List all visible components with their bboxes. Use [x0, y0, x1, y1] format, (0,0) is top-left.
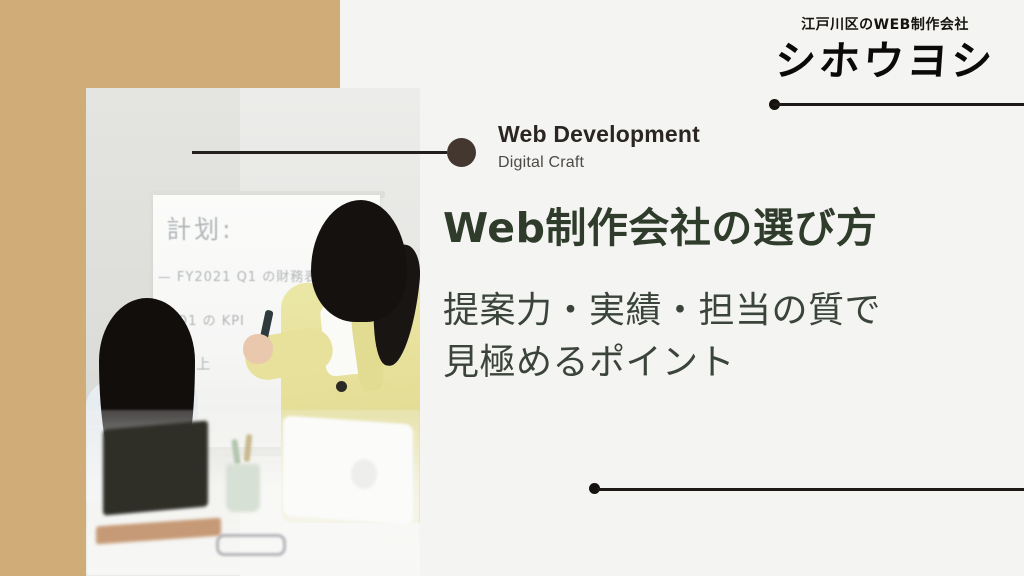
- pen-cup: [226, 464, 260, 512]
- eyeglasses: [216, 534, 286, 556]
- white-laptop: [283, 415, 413, 524]
- photo-background: 計划: — FY2021 Q1 の財務表 — Q1 の KPI — 売上: [86, 88, 420, 576]
- white-laptop-logo: [351, 459, 377, 489]
- presenter-hand: [243, 334, 273, 364]
- eyebrow-group: Web Development Digital Craft: [498, 120, 968, 172]
- brand-wordmark: シホウヨシ: [768, 40, 1001, 83]
- whiteboard-title: 計划:: [166, 210, 233, 246]
- eyebrow-connector-line: [192, 151, 447, 154]
- brand-logo[interactable]: 江戸川区のWEB制作会社 シホウヨシ: [770, 14, 1000, 83]
- slide-canvas: 計划: — FY2021 Q1 の財務表 — Q1 の KPI — 売上: [0, 0, 1024, 576]
- connector-dot-icon: [447, 138, 476, 167]
- eyebrow-subtitle: Digital Craft: [498, 154, 968, 172]
- page-subtitle: 提案力・実績・担当の質で 見極めるポイント: [443, 285, 1003, 389]
- page-subtitle-line-2: 見極めるポイント: [443, 337, 1003, 389]
- dark-laptop-screen: [103, 420, 208, 515]
- decorative-rule-bottom: [597, 488, 1024, 491]
- eyebrow-title: Web Development: [498, 120, 968, 149]
- whiteboard-line-1: — FY2021 Q1 の財務表: [158, 266, 318, 285]
- page-title: Web制作会社の選び方: [443, 205, 1003, 252]
- decorative-rule-top: [773, 103, 1024, 106]
- hero-photo: 計划: — FY2021 Q1 の財務表 — Q1 の KPI — 売上: [86, 88, 420, 576]
- brand-tagline: 江戸川区のWEB制作会社: [770, 14, 1000, 34]
- page-subtitle-line-1: 提案力・実績・担当の質で: [443, 285, 1003, 337]
- jacket-button: [336, 381, 347, 392]
